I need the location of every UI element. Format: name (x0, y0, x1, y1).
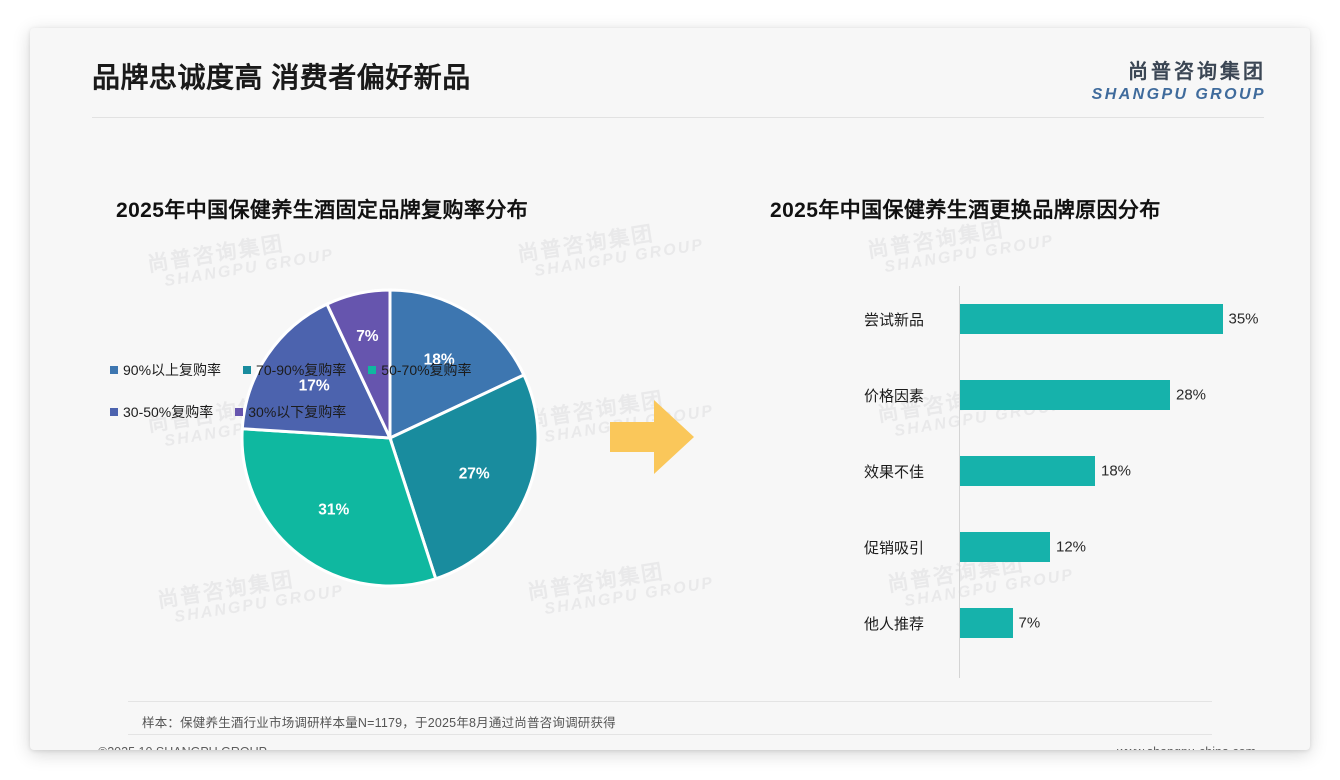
right-arrow-icon (608, 396, 696, 478)
bar-category-label: 尝试新品 (730, 309, 938, 330)
bar-value-label: 7% (1013, 615, 1041, 632)
footer-copyright: ©2025.10 SHANGPU GROUP (98, 745, 267, 750)
legend-swatch-icon (235, 408, 243, 416)
bar-track (960, 608, 1013, 638)
legend-swatch-icon (368, 366, 376, 374)
legend-swatch-icon (243, 366, 251, 374)
pie-chart-legend: 90%以上复购率 70-90%复购率 50-70%复购率 30-50%复购率 3… (110, 360, 610, 444)
legend-item-1[interactable]: 70-90%复购率 (243, 360, 346, 380)
bar-fill[interactable] (960, 608, 1013, 638)
footnote-text: 样本：保健养生酒行业市场调研样本量N=1179，于2025年8月通过尚普咨询调研… (142, 712, 616, 731)
header-divider (92, 117, 1264, 118)
bar-category-label: 他人推荐 (730, 613, 938, 634)
bar-track (960, 380, 1170, 410)
brand-logo: 尚普咨询集团 SHANGPU GROUP (1092, 55, 1266, 104)
legend-swatch-icon (110, 366, 118, 374)
bar-fill[interactable] (960, 532, 1050, 562)
bar-value-label: 28% (1170, 387, 1206, 404)
bar-chart-row: 尝试新品35% (730, 296, 1290, 342)
legend-label: 30-50%复购率 (123, 402, 213, 422)
slide-header: 品牌忠诚度高 消费者偏好新品 尚普咨询集团 SHANGPU GROUP (30, 28, 1310, 120)
bar-track (960, 304, 1223, 334)
bar-value-label: 35% (1223, 311, 1259, 328)
bar-track (960, 532, 1050, 562)
legend-item-0[interactable]: 90%以上复购率 (110, 360, 221, 380)
bar-chart-row: 价格因素28% (730, 372, 1290, 418)
bar-chart-row: 效果不佳18% (730, 448, 1290, 494)
bar-fill[interactable] (960, 380, 1170, 410)
legend-swatch-icon (110, 408, 118, 416)
bar-chart: 尝试新品35%价格因素28%效果不佳18%促销吸引12%他人推荐7% (730, 238, 1290, 688)
logo-english-text: SHANGPU GROUP (1092, 86, 1266, 104)
bar-chart-row: 促销吸引12% (730, 524, 1290, 570)
pie-chart-title: 2025年中国保健养生酒固定品牌复购率分布 (116, 194, 528, 224)
pie-chart: 18%27%31%17%7% (90, 238, 690, 668)
bar-value-label: 12% (1050, 539, 1086, 556)
legend-label: 90%以上复购率 (123, 360, 221, 380)
logo-chinese-text: 尚普咨询集团 (1092, 55, 1266, 84)
footer-website[interactable]: www.shangpu-china.com (1117, 745, 1256, 750)
slide-canvas: 尚普咨询集团SHANGPU GROUP 尚普咨询集团SHANGPU GROUP … (30, 28, 1310, 750)
legend-label: 30%以下复购率 (248, 402, 346, 422)
bar-track (960, 456, 1095, 486)
pie-slice-label: 31% (318, 502, 349, 519)
bar-fill[interactable] (960, 304, 1223, 334)
legend-label: 70-90%复购率 (256, 360, 346, 380)
bar-category-label: 促销吸引 (730, 537, 938, 558)
pie-slice-label: 27% (459, 466, 490, 483)
legend-row-1: 90%以上复购率 70-90%复购率 50-70%复购率 (110, 360, 610, 380)
bar-chart-row: 他人推荐7% (730, 600, 1290, 646)
bar-fill[interactable] (960, 456, 1095, 486)
footnote-divider-top (128, 701, 1212, 702)
legend-item-4[interactable]: 30%以下复购率 (235, 402, 346, 422)
page-title: 品牌忠诚度高 消费者偏好新品 (92, 56, 471, 96)
bar-category-label: 效果不佳 (730, 461, 938, 482)
legend-row-2: 30-50%复购率 30%以下复购率 (110, 402, 610, 422)
legend-item-2[interactable]: 50-70%复购率 (368, 360, 471, 380)
bar-category-label: 价格因素 (730, 385, 938, 406)
footnote-divider-bottom (128, 734, 1212, 735)
bar-value-label: 18% (1095, 463, 1131, 480)
legend-label: 50-70%复购率 (381, 360, 471, 380)
pie-slice-label: 7% (356, 328, 379, 345)
bar-chart-title: 2025年中国保健养生酒更换品牌原因分布 (770, 194, 1161, 224)
legend-item-3[interactable]: 30-50%复购率 (110, 402, 213, 422)
